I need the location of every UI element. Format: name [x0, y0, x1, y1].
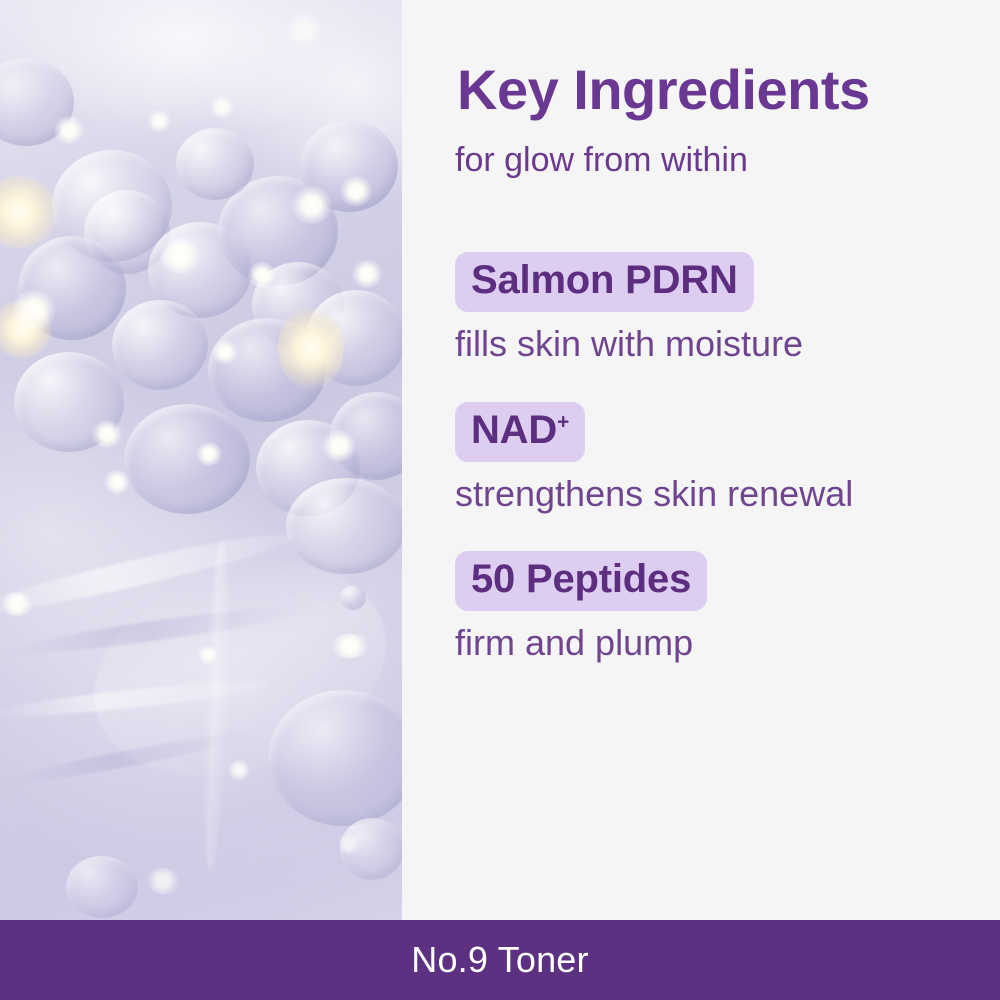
- product-name-label: No.9 Toner: [411, 942, 588, 978]
- ingredient-name-badge: Salmon PDRN: [455, 252, 754, 312]
- ingredients-list: Salmon PDRN fills skin with moisture NAD…: [402, 252, 1000, 701]
- ingredient-description: firm and plump: [455, 622, 1000, 663]
- ingredient-item: NAD+ strengthens skin renewal: [402, 402, 1000, 515]
- ingredient-item: Salmon PDRN fills skin with moisture: [402, 252, 1000, 365]
- ingredient-name-text: 50 Peptides: [471, 557, 691, 601]
- ingredient-name-text: Salmon PDRN: [471, 258, 738, 302]
- ingredient-description: fills skin with moisture: [455, 323, 1000, 364]
- gel-vignette-layer: [0, 0, 402, 920]
- page-title: Key Ingredients: [457, 62, 870, 118]
- product-name-footer: No.9 Toner: [0, 920, 1000, 1000]
- ingredient-name-superscript: +: [557, 410, 569, 433]
- product-texture-image: [0, 0, 402, 920]
- ingredient-name-badge: NAD+: [455, 402, 585, 462]
- ingredient-name-text: NAD: [471, 408, 557, 452]
- card-top-area: Key Ingredients for glow from within Sal…: [0, 0, 1000, 920]
- ingredients-content-panel: Key Ingredients for glow from within Sal…: [402, 0, 1000, 920]
- ingredient-item: 50 Peptides firm and plump: [402, 551, 1000, 664]
- page-subtitle: for glow from within: [455, 140, 748, 181]
- product-ingredients-card: Key Ingredients for glow from within Sal…: [0, 0, 1000, 1000]
- ingredient-name-badge: 50 Peptides: [455, 551, 707, 611]
- ingredient-description: strengthens skin renewal: [455, 473, 1000, 514]
